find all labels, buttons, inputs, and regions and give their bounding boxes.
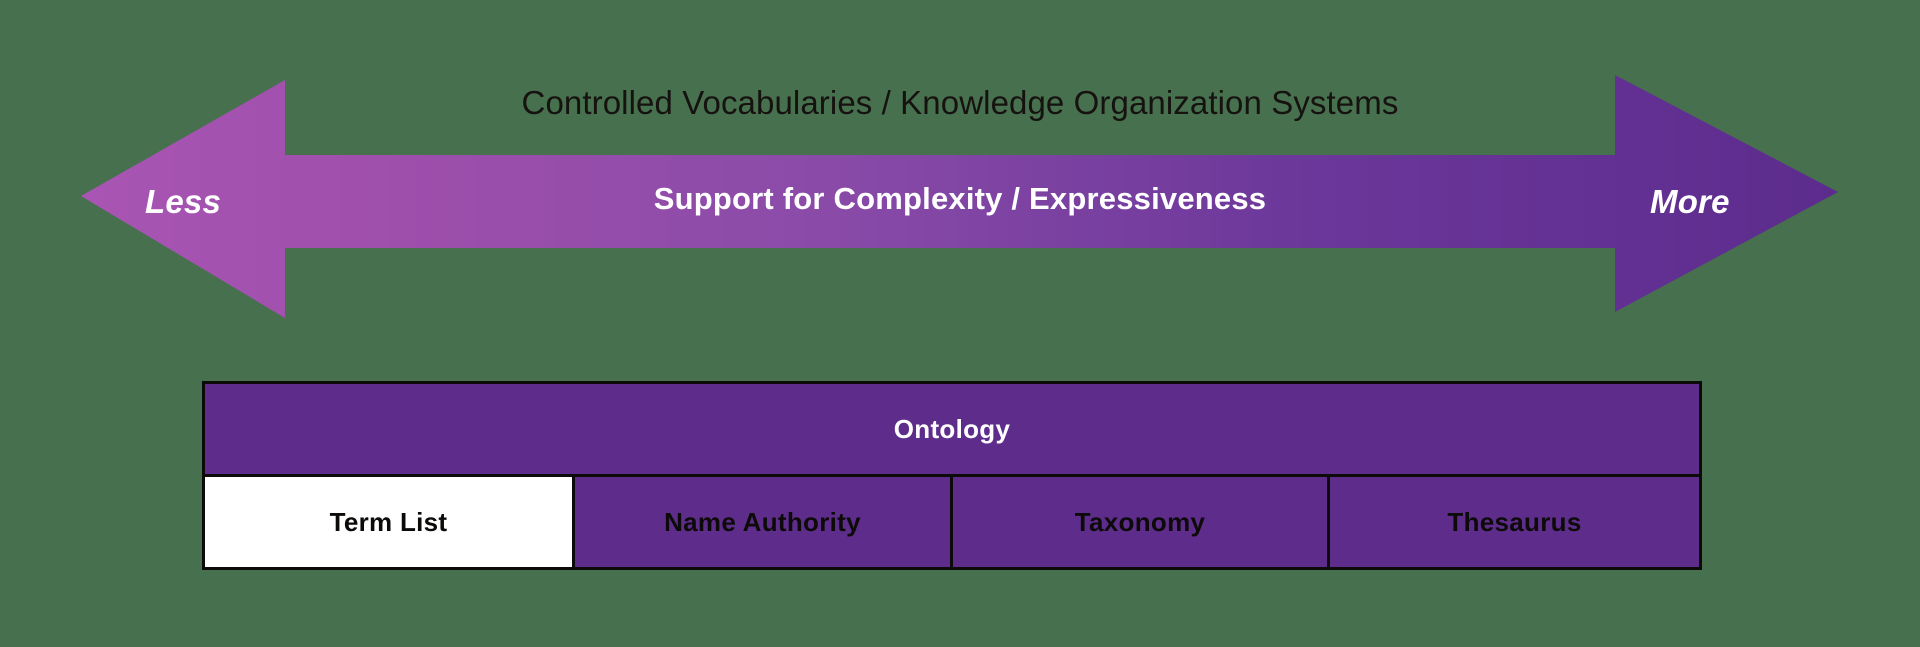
arrow-label-more: More (1650, 185, 1730, 218)
double-headed-arrow-icon (0, 0, 1920, 340)
vocabulary-types-table: Ontology Term List Name Authority Taxono… (202, 381, 1702, 570)
spectrum-arrow: Controlled Vocabularies / Knowledge Orga… (0, 0, 1920, 340)
table-row-types: Term List Name Authority Taxonomy Thesau… (205, 477, 1699, 567)
term-list-label: Term List (330, 507, 448, 538)
table-cell-term-list: Term List (205, 477, 575, 567)
arrow-center-label: Support for Complexity / Expressiveness (0, 183, 1920, 214)
table-row-ontology: Ontology (205, 384, 1699, 477)
diagram-canvas: Controlled Vocabularies / Knowledge Orga… (0, 0, 1920, 647)
ontology-label: Ontology (894, 414, 1011, 445)
table-cell-name-authority: Name Authority (575, 477, 953, 567)
page-title: Controlled Vocabularies / Knowledge Orga… (0, 86, 1920, 119)
table-cell-thesaurus: Thesaurus (1330, 477, 1699, 567)
thesaurus-label: Thesaurus (1447, 507, 1581, 538)
taxonomy-label: Taxonomy (1075, 507, 1206, 538)
table-cell-taxonomy: Taxonomy (953, 477, 1330, 567)
name-authority-label: Name Authority (664, 507, 861, 538)
